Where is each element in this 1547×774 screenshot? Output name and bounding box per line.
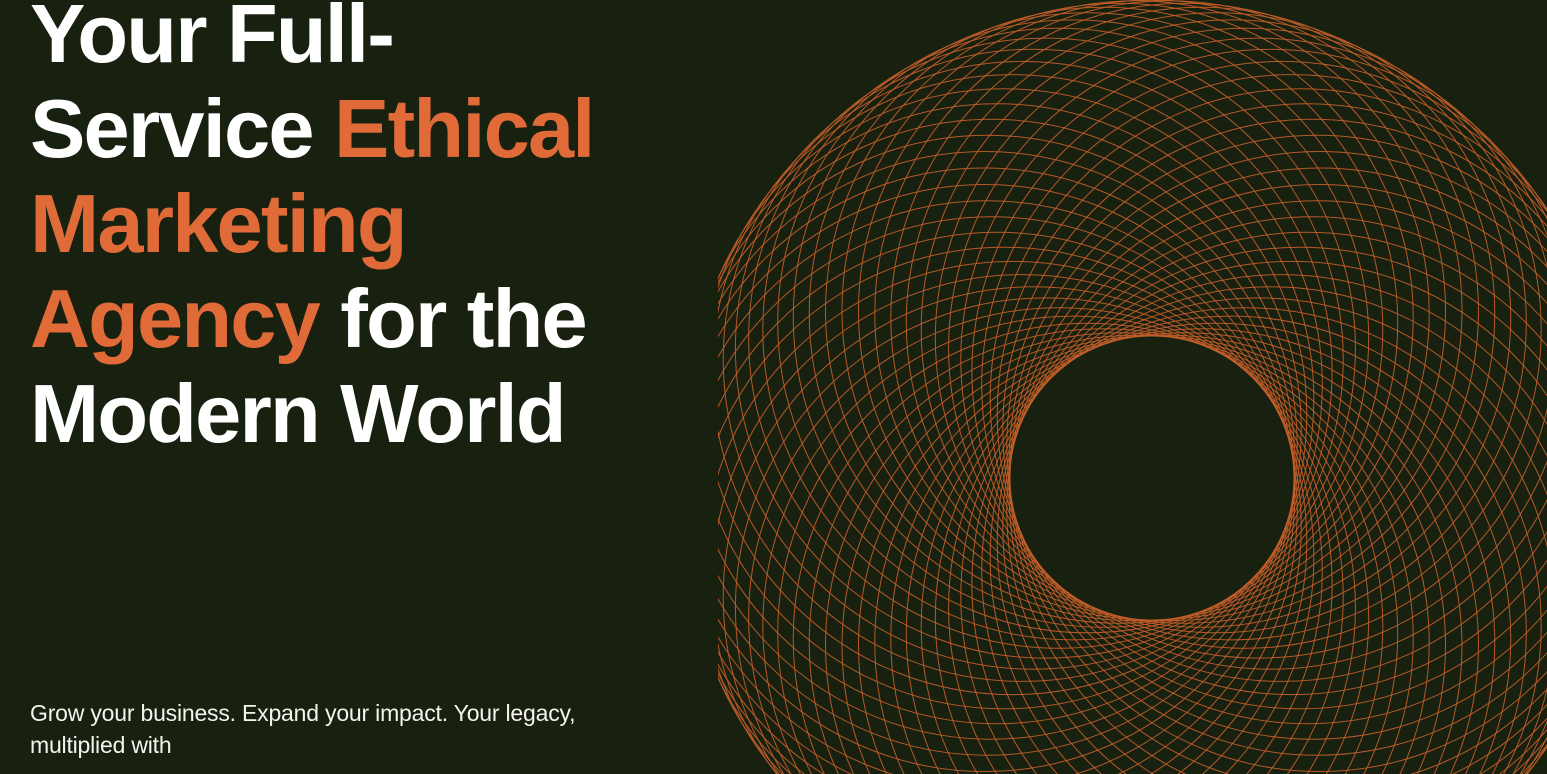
spirograph-ring xyxy=(793,329,1413,774)
spirograph-ring xyxy=(875,333,1495,774)
spirograph-ring xyxy=(1009,152,1547,772)
spirograph-ring xyxy=(842,0,1462,620)
spirograph-ring xyxy=(718,89,1314,709)
spirograph-ring xyxy=(891,329,1511,774)
spirograph-ring xyxy=(718,61,1332,681)
spirograph-ring xyxy=(997,232,1547,774)
spirograph-ring xyxy=(778,13,1398,633)
spirograph-rings-group xyxy=(718,0,1547,774)
spirograph-ring xyxy=(793,7,1413,627)
spirograph-ring xyxy=(763,316,1383,774)
hero-copy-column: Your Full-Service Ethical Marketing Agen… xyxy=(30,0,690,774)
spirograph-ring xyxy=(982,75,1547,695)
spirograph-ring xyxy=(826,1,1446,621)
spirograph-ring xyxy=(718,275,1332,774)
spirograph-ring xyxy=(718,119,1301,739)
spirograph-ring xyxy=(1003,217,1547,774)
spirograph-ring xyxy=(990,247,1547,774)
spirograph-ring xyxy=(858,335,1478,774)
spirograph-ring xyxy=(718,232,1307,774)
spirograph-ring xyxy=(906,13,1526,633)
spirograph-ring xyxy=(718,168,1294,774)
spirograph-ring xyxy=(990,89,1547,709)
spirograph-ring xyxy=(961,287,1547,774)
spirograph-ring xyxy=(842,336,1462,774)
spirograph-ring xyxy=(718,201,1297,774)
spirograph-ring xyxy=(949,38,1547,658)
spirograph-ring xyxy=(718,135,1297,755)
spirograph-ring xyxy=(949,298,1547,774)
spirograph-ring xyxy=(723,49,1343,669)
spirograph-ring xyxy=(858,1,1478,621)
spirograph-ring xyxy=(935,28,1547,648)
spirograph-ring xyxy=(718,152,1295,772)
spirograph-ring xyxy=(718,247,1314,774)
spirograph-ring xyxy=(875,3,1495,623)
spirograph-ring xyxy=(718,261,1322,774)
spirograph-ring xyxy=(935,308,1547,774)
spirograph-ring xyxy=(718,75,1322,695)
hero-subheadline: Grow your business. Expand your impact. … xyxy=(30,697,670,761)
spirograph-ring xyxy=(826,335,1446,774)
spirograph-ring xyxy=(972,275,1547,774)
spirograph-ring xyxy=(961,49,1547,669)
spirograph-ring xyxy=(749,308,1369,774)
spirograph-ring xyxy=(1010,168,1547,774)
spirograph-ring xyxy=(891,7,1511,627)
spirograph-ring xyxy=(997,104,1547,724)
spirograph-ring xyxy=(718,217,1301,774)
spirograph-ring xyxy=(809,3,1429,623)
spirograph-ring xyxy=(723,287,1343,774)
spirograph-ring xyxy=(718,104,1307,724)
spirograph-ring xyxy=(735,38,1355,658)
spirograph-ring xyxy=(1003,119,1547,739)
spirograph-ring xyxy=(749,28,1369,648)
spirograph-ring xyxy=(982,261,1547,774)
spirograph-ring xyxy=(921,316,1541,774)
spirograph-decoration xyxy=(718,0,1547,774)
spirograph-ring xyxy=(735,298,1355,774)
spirograph-ring xyxy=(778,323,1398,774)
spirograph-ring xyxy=(763,20,1383,640)
spirograph-ring xyxy=(1007,201,1547,774)
spirograph-ring xyxy=(809,333,1429,774)
spirograph-ring xyxy=(921,20,1541,640)
page-title: Your Full-Service Ethical Marketing Agen… xyxy=(30,0,630,461)
spirograph-ring xyxy=(906,323,1526,774)
spirograph-ring xyxy=(718,184,1295,774)
spirograph-ring xyxy=(1007,135,1547,755)
spirograph-svg xyxy=(718,0,1547,774)
spirograph-ring xyxy=(972,61,1547,681)
spirograph-ring xyxy=(1009,184,1547,774)
hero-section: Your Full-Service Ethical Marketing Agen… xyxy=(0,0,1547,774)
